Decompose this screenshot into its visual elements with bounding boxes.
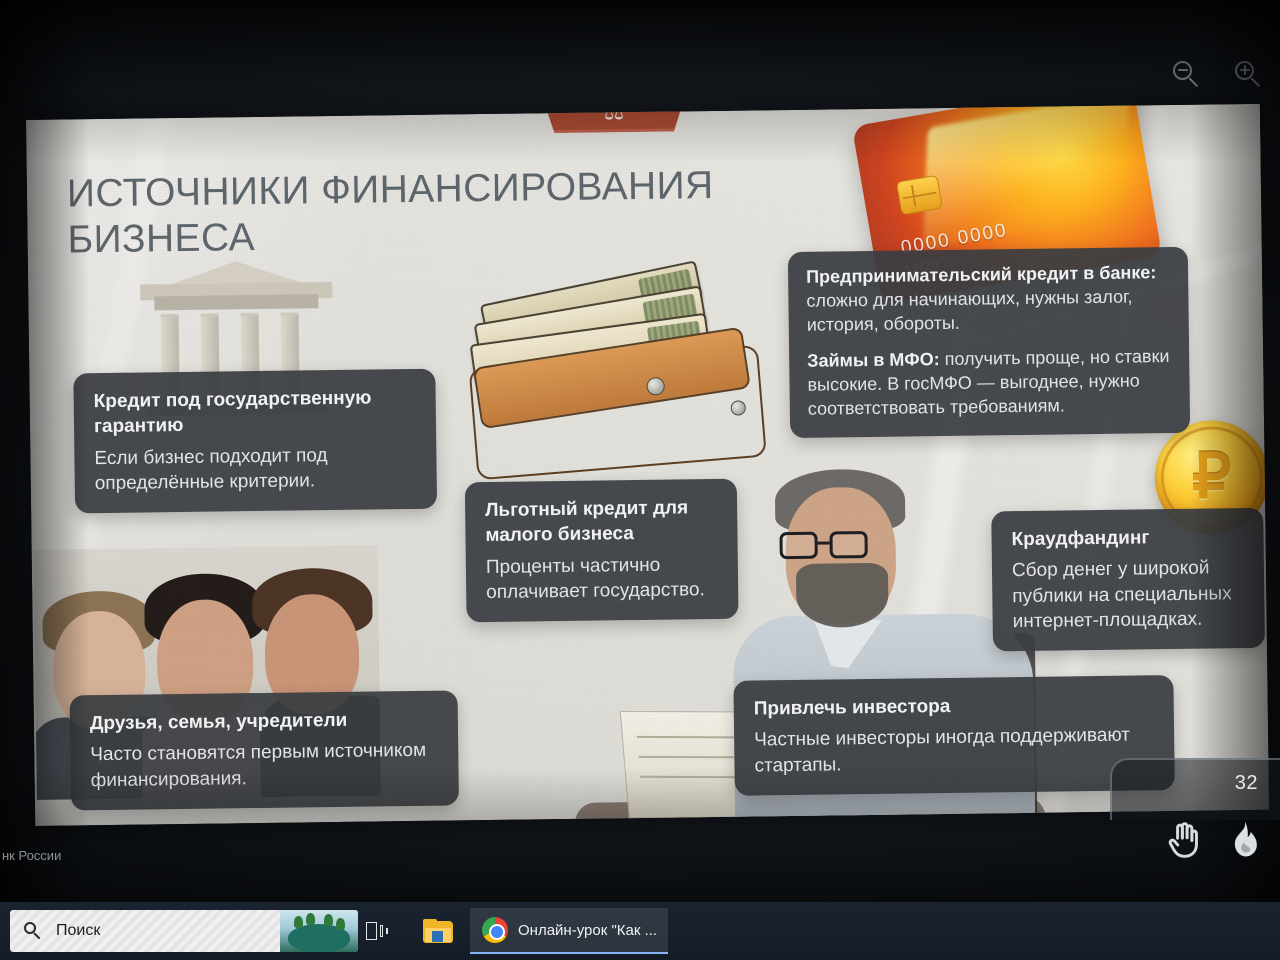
callout-text: Частные инвесторы иногда поддерживают ст…: [754, 723, 1155, 779]
taskbar-item-chrome[interactable]: Онлайн-урок "Как ...: [470, 908, 668, 954]
taskbar-item-label: Онлайн-урок "Как ...: [518, 922, 657, 939]
viewer-zoom-controls: [1170, 58, 1266, 92]
magnifier-minus-icon[interactable]: [1170, 58, 1204, 92]
search-icon: [24, 922, 42, 940]
callout-text: сложно для начинающих, нужны залог, исто…: [806, 286, 1132, 334]
search-widget-thumbnail[interactable]: [280, 910, 358, 952]
partial-footer-text: нк России: [2, 848, 61, 863]
wallet-with-money-illustration: [461, 252, 778, 491]
callout-paragraph: Займы в МФО: получить проще, но ставки в…: [807, 345, 1172, 422]
callout-text: Проценты частично оплачивает государство…: [486, 552, 719, 606]
presentation-slide[interactable]: ⚖ ИСТОЧНИКИ ФИНАНСИРОВАНИЯ БИЗНЕСА: [26, 104, 1269, 826]
windows-taskbar: Поиск Онлайн-урок "Как ...: [0, 902, 1280, 960]
callout-paragraph: Предпринимательский кредит в банке: слож…: [806, 261, 1171, 338]
task-view-icon[interactable]: [356, 908, 398, 954]
callout-bank-credit: Предпринимательский кредит в банке: слож…: [788, 247, 1190, 438]
callout-friends-family: Друзья, семья, учредители Часто становят…: [70, 690, 459, 810]
callout-heading: Займы в МФО:: [807, 349, 940, 371]
callout-heading: Кредит под государственную гарантию: [94, 385, 417, 440]
callout-text: Сбор денег у широкой публики на специаль…: [1012, 555, 1245, 634]
chrome-icon: [482, 917, 508, 943]
viewer-toolbar: [980, 800, 1280, 890]
search-input[interactable]: Поиск: [10, 910, 358, 952]
slide-background: ⚖ ИСТОЧНИКИ ФИНАНСИРОВАНИЯ БИЗНЕСА: [26, 104, 1269, 826]
slide-title: ИСТОЧНИКИ ФИНАНСИРОВАНИЯ БИЗНЕСА: [67, 162, 768, 263]
search-placeholder: Поиск: [56, 922, 100, 940]
card-chip-icon: [896, 175, 943, 216]
flame-icon[interactable]: [1222, 818, 1266, 862]
magnifier-plus-icon[interactable]: [1232, 58, 1266, 92]
callout-heading: Льготный кредит для малого бизнеса: [485, 495, 718, 549]
callout-heading: Друзья, семья, учредители: [90, 707, 438, 737]
callout-text: Часто становятся первым источником финан…: [90, 738, 439, 793]
callout-heading: Привлечь инвестора: [754, 691, 1154, 721]
callout-heading: Краудфандинг: [1011, 524, 1243, 552]
folder-icon[interactable]: [416, 908, 460, 954]
callout-soft-loan: Льготный кредит для малого бизнеса Проце…: [465, 479, 739, 623]
screen-photo: ⚖ ИСТОЧНИКИ ФИНАНСИРОВАНИЯ БИЗНЕСА: [0, 0, 1280, 960]
page-number: 32: [1235, 772, 1258, 795]
hand-icon[interactable]: [1162, 818, 1206, 862]
callout-crowdfunding: Краудфандинг Сбор денег у широкой публик…: [991, 508, 1265, 652]
callout-state-guarantee: Кредит под государственную гарантию Если…: [73, 369, 437, 514]
callout-heading: Предпринимательский кредит в банке:: [806, 262, 1156, 287]
callout-attract-investor: Привлечь инвестора Частные инвесторы ино…: [733, 675, 1174, 796]
callout-text: Если бизнес подходит под определённые кр…: [94, 441, 417, 496]
